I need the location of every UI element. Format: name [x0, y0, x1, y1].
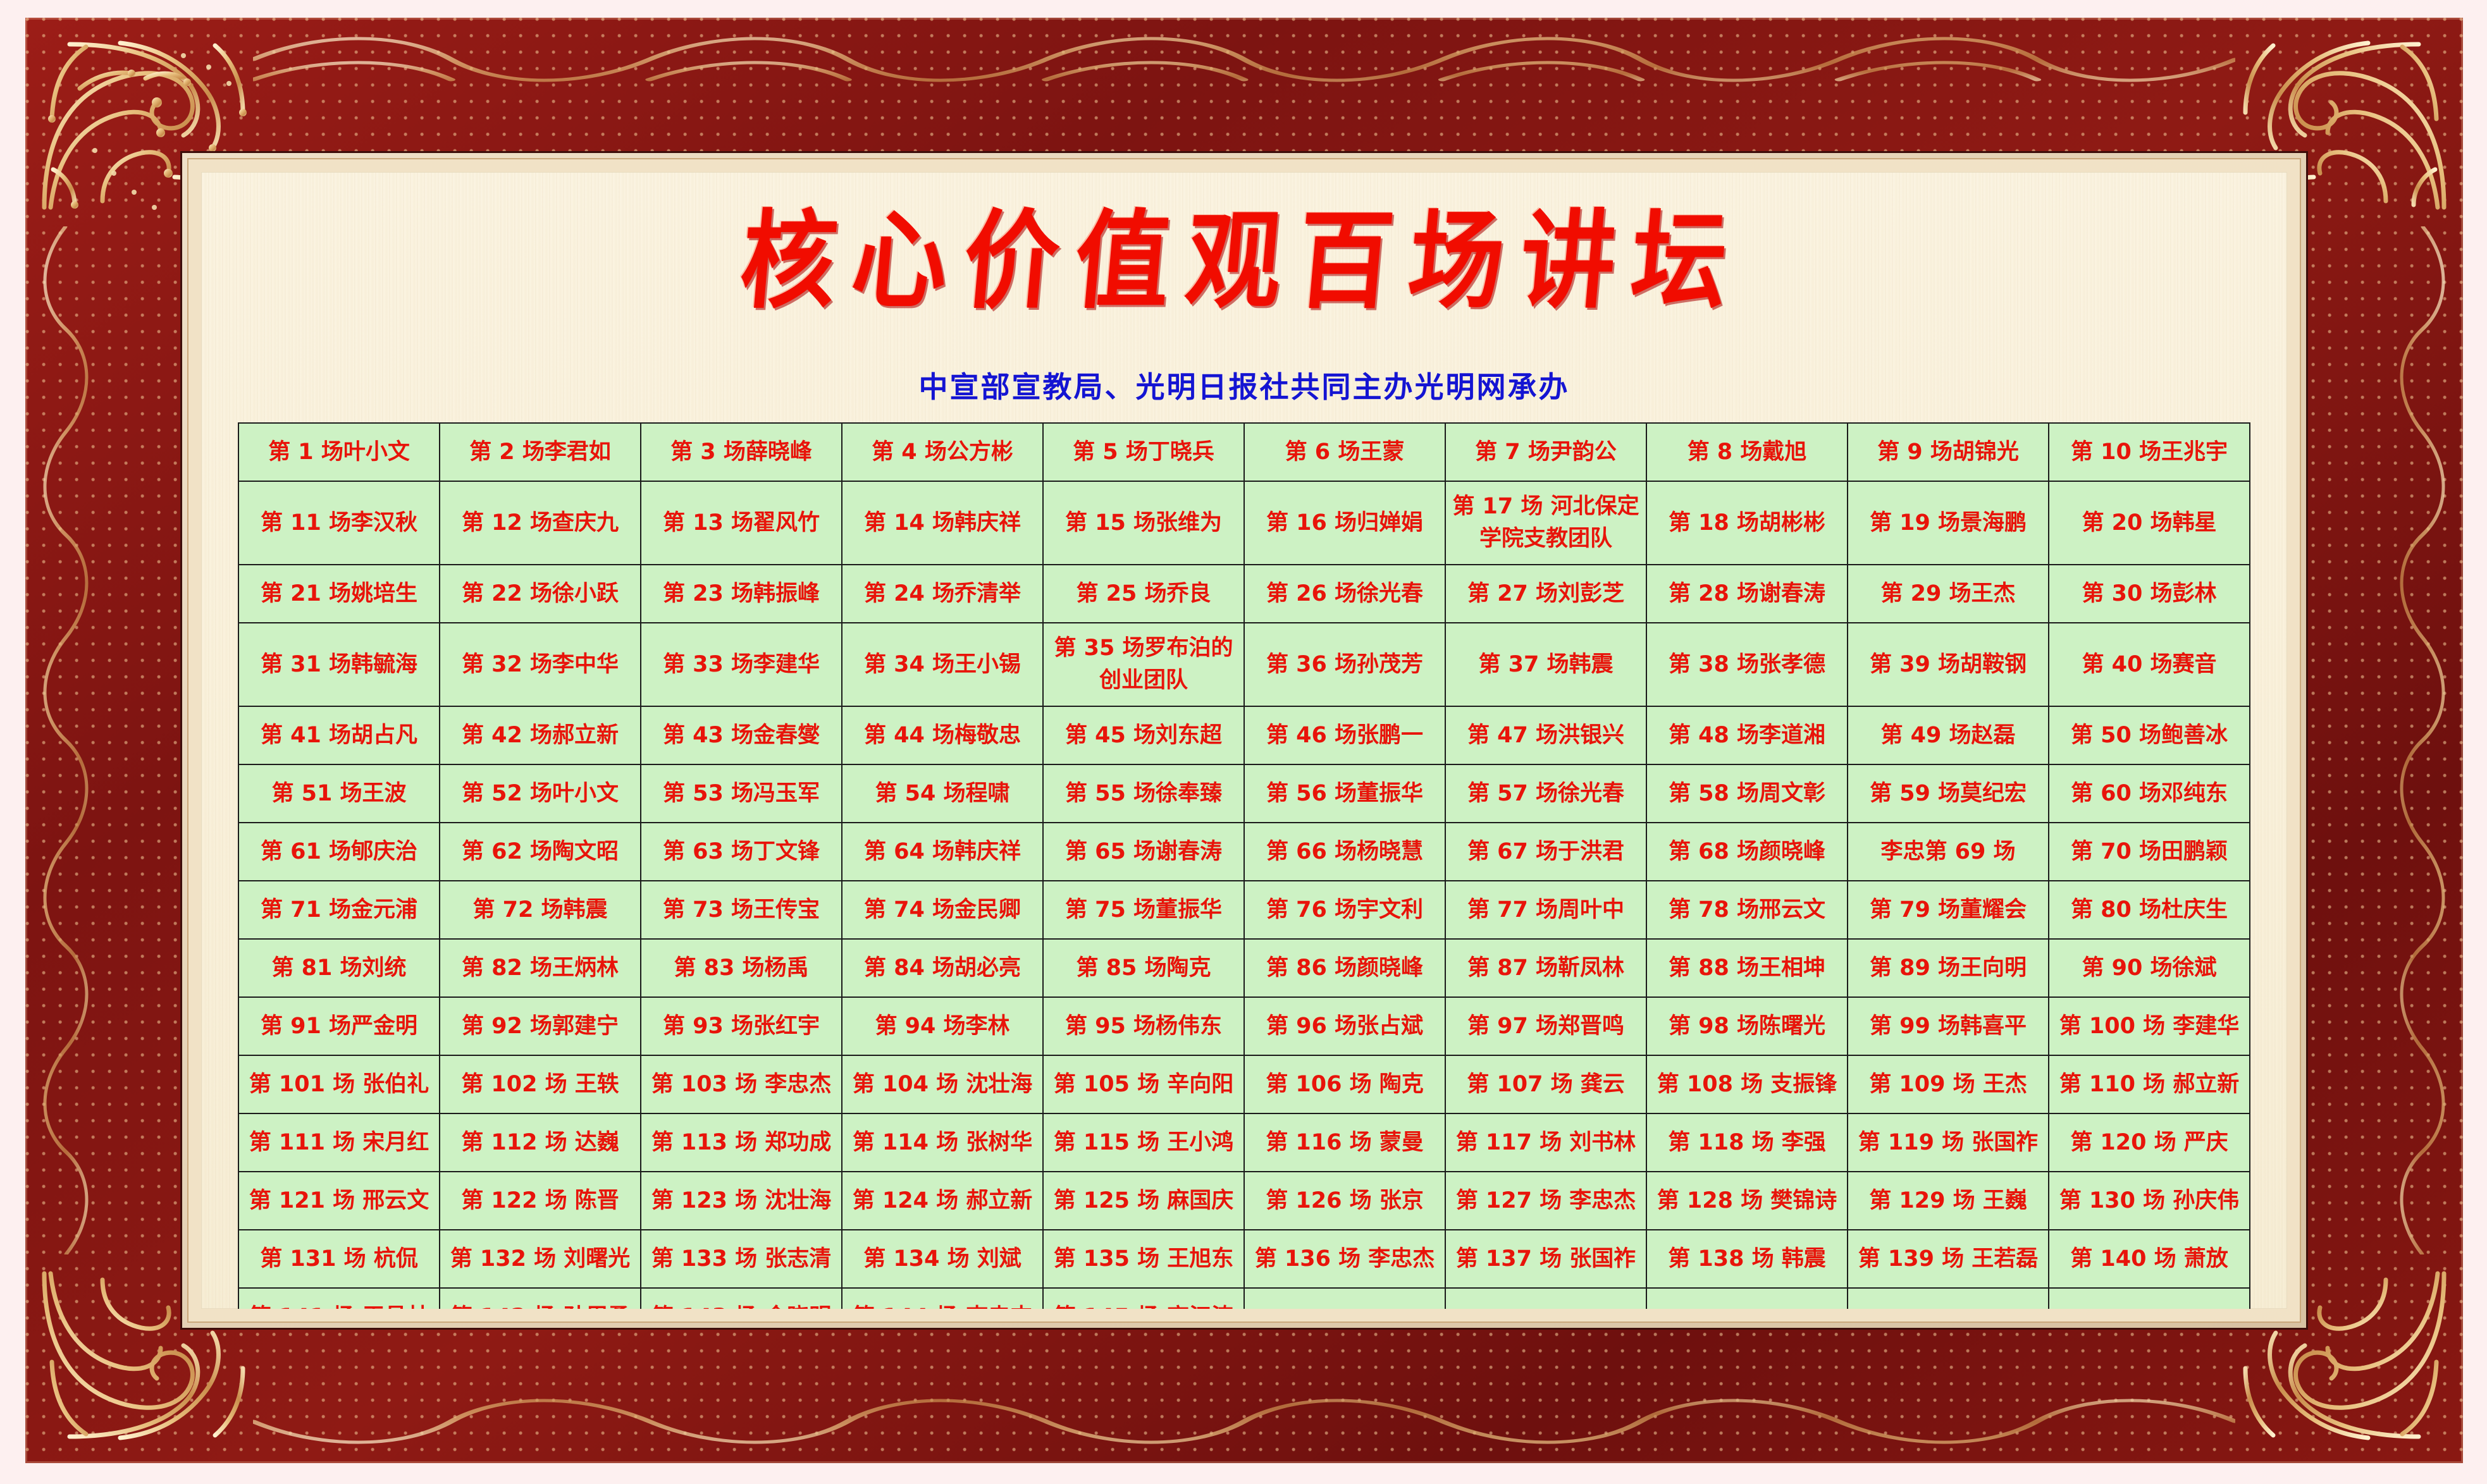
- lecture-cell[interactable]: 第 61 场郇庆治: [238, 823, 440, 881]
- lecture-cell[interactable]: 第 132 场 刘曙光: [440, 1230, 641, 1288]
- lecture-cell[interactable]: 第 11 场李汉秋: [238, 481, 440, 565]
- lecture-cell[interactable]: 第 131 场 杭侃: [238, 1230, 440, 1288]
- lecture-cell[interactable]: 第 76 场宇文利: [1244, 881, 1445, 939]
- table-row: 第 131 场 杭侃第 132 场 刘曙光第 133 场 张志清第 134 场 …: [238, 1230, 2250, 1288]
- lecture-cell[interactable]: 第 51 场王波: [238, 764, 440, 823]
- page-subtitle: 中宣部宣教局、光明日报社共同主办光明网承办: [201, 364, 2287, 406]
- lecture-cell[interactable]: 第 70 场田鹏颖: [2049, 823, 2250, 881]
- lecture-cell[interactable]: 第 112 场 达巍: [440, 1113, 641, 1172]
- lecture-cell[interactable]: 第 43 场金春燮: [641, 706, 842, 764]
- table-row: 第 61 场郇庆治第 62 场陶文昭第 63 场丁文锋第 64 场韩庆祥第 65…: [238, 823, 2250, 881]
- lecture-cell[interactable]: 第 53 场冯玉军: [641, 764, 842, 823]
- lecture-cell[interactable]: 第 39 场胡鞍钢: [1848, 623, 2049, 706]
- edge-ornament-right: [2385, 226, 2460, 1254]
- table-row: 第 71 场金元浦第 72 场韩震第 73 场王传宝第 74 场金民卿第 75 …: [238, 881, 2250, 939]
- table-row: 第 21 场姚培生第 22 场徐小跃第 23 场韩振峰第 24 场乔清举第 25…: [238, 565, 2250, 623]
- lecture-cell[interactable]: 第 1 场叶小文: [238, 423, 440, 481]
- lecture-cell[interactable]: 第 63 场丁文锋: [641, 823, 842, 881]
- lecture-cell[interactable]: 第 83 场杨禹: [641, 939, 842, 997]
- lecture-cell[interactable]: 第 44 场梅敬忠: [842, 706, 1043, 764]
- lecture-cell[interactable]: 第 34 场王小锡: [842, 623, 1043, 706]
- lecture-cell[interactable]: 第 17 场 河北保定学院支教团队: [1445, 481, 1646, 565]
- lecture-cell[interactable]: 第 22 场徐小跃: [440, 565, 641, 623]
- lecture-cell[interactable]: 第 4 场公方彬: [842, 423, 1043, 481]
- lecture-table: 第 1 场叶小文第 2 场李君如第 3 场薛晓峰第 4 场公方彬第 5 场丁晓兵…: [238, 422, 2250, 1309]
- lecture-cell[interactable]: 第 135 场 王旭东: [1043, 1230, 1244, 1288]
- lecture-cell[interactable]: 第 72 场韩震: [440, 881, 641, 939]
- lecture-cell[interactable]: 第 133 场 张志清: [641, 1230, 842, 1288]
- lecture-cell[interactable]: 第 20 场韩星: [2049, 481, 2250, 565]
- table-row: 第 41 场胡占凡第 42 场郝立新第 43 场金春燮第 44 场梅敬忠第 45…: [238, 706, 2250, 764]
- lecture-cell-empty: [2049, 1288, 2250, 1309]
- lecture-cell[interactable]: 第 88 场王相坤: [1646, 939, 1848, 997]
- lecture-cell[interactable]: 第 137 场 张国祚: [1445, 1230, 1646, 1288]
- inner-frame-bevel: 核心价值观百场讲坛 中宣部宣教局、光明日报社共同主办光明网承办 第 1 场叶小文…: [187, 158, 2301, 1323]
- inner-frame: 核心价值观百场讲坛 中宣部宣教局、光明日报社共同主办光明网承办 第 1 场叶小文…: [182, 153, 2306, 1328]
- lecture-cell[interactable]: 第 66 场杨晓慧: [1244, 823, 1445, 881]
- lecture-cell[interactable]: 第 57 场徐光春: [1445, 764, 1646, 823]
- lecture-cell[interactable]: 第 33 场李建华: [641, 623, 842, 706]
- lecture-cell[interactable]: 第 73 场王传宝: [641, 881, 842, 939]
- lecture-cell[interactable]: 第 84 场胡必亮: [842, 939, 1043, 997]
- table-row: 第 1 场叶小文第 2 场李君如第 3 场薛晓峰第 4 场公方彬第 5 场丁晓兵…: [238, 423, 2250, 481]
- lecture-cell[interactable]: 第 109 场 王杰: [1848, 1055, 2049, 1113]
- lecture-cell[interactable]: 第 78 场邢云文: [1646, 881, 1848, 939]
- lecture-cell[interactable]: 第 14 场韩庆祥: [842, 481, 1043, 565]
- lecture-cell[interactable]: 第 116 场 蒙曼: [1244, 1113, 1445, 1172]
- lecture-cell[interactable]: 第 46 场张鹏一: [1244, 706, 1445, 764]
- lecture-cell[interactable]: 第 24 场乔清举: [842, 565, 1043, 623]
- lecture-cell[interactable]: 第 71 场金元浦: [238, 881, 440, 939]
- lecture-cell[interactable]: 第 106 场 陶克: [1244, 1055, 1445, 1113]
- table-row: 第 31 场韩毓海第 32 场李中华第 33 场李建华第 34 场王小锡第 35…: [238, 623, 2250, 706]
- lecture-cell[interactable]: 第 90 场徐斌: [2049, 939, 2250, 997]
- lecture-cell[interactable]: 第 37 场韩震: [1445, 623, 1646, 706]
- lecture-cell[interactable]: 第 62 场陶文昭: [440, 823, 641, 881]
- lecture-cell[interactable]: 第 99 场韩喜平: [1848, 997, 2049, 1055]
- lecture-cell[interactable]: 第 45 场刘东超: [1043, 706, 1244, 764]
- poster-screen: 核心价值观百场讲坛 中宣部宣教局、光明日报社共同主办光明网承办 第 1 场叶小文…: [0, 0, 2487, 1484]
- lecture-cell[interactable]: 第 60 场邓纯东: [2049, 764, 2250, 823]
- lecture-cell[interactable]: 第 107 场 龚云: [1445, 1055, 1646, 1113]
- lecture-cell[interactable]: 第 87 场靳凤林: [1445, 939, 1646, 997]
- lecture-cell[interactable]: 第 92 场郭建宁: [440, 997, 641, 1055]
- lecture-cell[interactable]: 第 136 场 李忠杰: [1244, 1230, 1445, 1288]
- lecture-cell[interactable]: 第 58 场周文彰: [1646, 764, 1848, 823]
- edge-ornament-bottom: [253, 1383, 2235, 1459]
- lecture-cell[interactable]: 第 28 场谢春涛: [1646, 565, 1848, 623]
- lecture-cell[interactable]: 第 124 场 郝立新: [842, 1172, 1043, 1230]
- lecture-cell[interactable]: 第 16 场归婵娟: [1244, 481, 1445, 565]
- lecture-cell-empty: [1445, 1288, 1646, 1309]
- lecture-cell[interactable]: 第 80 场杜庆生: [2049, 881, 2250, 939]
- lecture-cell[interactable]: 第 32 场李中华: [440, 623, 641, 706]
- lecture-cell[interactable]: 第 114 场 张树华: [842, 1113, 1043, 1172]
- lecture-cell[interactable]: 第 108 场 支振锋: [1646, 1055, 1848, 1113]
- lecture-cell[interactable]: 第 115 场 王小鸿: [1043, 1113, 1244, 1172]
- lecture-cell[interactable]: 第 139 场 王若磊: [1848, 1230, 2049, 1288]
- lecture-cell[interactable]: 第 68 场颜晓峰: [1646, 823, 1848, 881]
- lecture-cell[interactable]: 李忠第 69 场: [1848, 823, 2049, 881]
- lecture-cell[interactable]: 第 97 场郑晋鸣: [1445, 997, 1646, 1055]
- lecture-cell[interactable]: 第 86 场颜晓峰: [1244, 939, 1445, 997]
- lecture-cell[interactable]: 第 35 场罗布泊的创业团队: [1043, 623, 1244, 706]
- lecture-cell[interactable]: 第 82 场王炳林: [440, 939, 641, 997]
- lecture-cell[interactable]: 第 54 场程啸: [842, 764, 1043, 823]
- lecture-cell[interactable]: 第 111 场 宋月红: [238, 1113, 440, 1172]
- table-row: 第 121 场 邢云文第 122 场 陈晋第 123 场 沈壮海第 124 场 …: [238, 1172, 2250, 1230]
- lecture-cell[interactable]: 第 128 场 樊锦诗: [1646, 1172, 1848, 1230]
- lecture-cell-empty: [1848, 1288, 2049, 1309]
- lecture-cell[interactable]: 第 120 场 严庆: [2049, 1113, 2250, 1172]
- lecture-cell[interactable]: 第 125 场 麻国庆: [1043, 1172, 1244, 1230]
- lecture-cell[interactable]: 第 65 场谢春涛: [1043, 823, 1244, 881]
- lecture-cell[interactable]: 第 75 场董振华: [1043, 881, 1244, 939]
- ornate-frame: 核心价值观百场讲坛 中宣部宣教局、光明日报社共同主办光明网承办 第 1 场叶小文…: [25, 18, 2463, 1463]
- lecture-cell[interactable]: 第 47 场洪银兴: [1445, 706, 1646, 764]
- lecture-cell[interactable]: 第 41 场胡占凡: [238, 706, 440, 764]
- lecture-cell[interactable]: 第 127 场 李忠杰: [1445, 1172, 1646, 1230]
- lecture-cell[interactable]: 第 81 场刘统: [238, 939, 440, 997]
- page-title: 核心价值观百场讲坛: [201, 172, 2287, 314]
- lecture-cell[interactable]: 第 141 场 王昌林: [238, 1288, 440, 1309]
- lecture-cell[interactable]: 第 96 场张占斌: [1244, 997, 1445, 1055]
- lecture-cell[interactable]: 第 74 场金民卿: [842, 881, 1043, 939]
- lecture-cell[interactable]: 第 31 场韩毓海: [238, 623, 440, 706]
- lecture-cell[interactable]: 第 19 场景海鹏: [1848, 481, 2049, 565]
- lecture-cell[interactable]: 第 59 场莫纪宏: [1848, 764, 2049, 823]
- lecture-cell[interactable]: 第 129 场 王巍: [1848, 1172, 2049, 1230]
- lecture-cell[interactable]: 第 42 场郝立新: [440, 706, 641, 764]
- lecture-cell[interactable]: 第 117 场 刘书林: [1445, 1113, 1646, 1172]
- lecture-cell[interactable]: 第 102 场 王轶: [440, 1055, 641, 1113]
- lecture-cell[interactable]: 第 95 场杨伟东: [1043, 997, 1244, 1055]
- lecture-cell[interactable]: 第 91 场严金明: [238, 997, 440, 1055]
- edge-ornament-top: [253, 21, 2235, 97]
- lecture-cell[interactable]: 第 138 场 韩震: [1646, 1230, 1848, 1288]
- lecture-cell[interactable]: 第 12 场查庆九: [440, 481, 641, 565]
- table-row: 第 91 场严金明第 92 场郭建宁第 93 场张红宇第 94 场李林第 95 …: [238, 997, 2250, 1055]
- lecture-cell[interactable]: 第 105 场 辛向阳: [1043, 1055, 1244, 1113]
- lecture-cell[interactable]: 第 130 场 孙庆伟: [2049, 1172, 2250, 1230]
- lecture-cell[interactable]: 第 6 场王蒙: [1244, 423, 1445, 481]
- table-row: 第 51 场王波第 52 场叶小文第 53 场冯玉军第 54 场程啸第 55 场…: [238, 764, 2250, 823]
- lecture-cell[interactable]: 第 13 场翟风竹: [641, 481, 842, 565]
- lecture-cell[interactable]: 第 79 场董耀会: [1848, 881, 2049, 939]
- lecture-cell[interactable]: 第 110 场 郝立新: [2049, 1055, 2250, 1113]
- lecture-cell[interactable]: 第 50 场鲍善冰: [2049, 706, 2250, 764]
- lecture-cell[interactable]: 第 40 场赛音: [2049, 623, 2250, 706]
- lecture-table-wrap: 第 1 场叶小文第 2 场李君如第 3 场薛晓峰第 4 场公方彬第 5 场丁晓兵…: [238, 422, 2250, 1309]
- lecture-cell[interactable]: 第 27 场刘彭芝: [1445, 565, 1646, 623]
- lecture-cell[interactable]: 第 26 场徐光春: [1244, 565, 1445, 623]
- table-row: 第 111 场 宋月红第 112 场 达巍第 113 场 郑功成第 114 场 …: [238, 1113, 2250, 1172]
- lecture-cell[interactable]: 第 49 场赵磊: [1848, 706, 2049, 764]
- lecture-cell[interactable]: 第 2 场李君如: [440, 423, 641, 481]
- lecture-cell[interactable]: 第 145 场 高江涛: [1043, 1288, 1244, 1309]
- table-row: 第 11 场李汉秋第 12 场查庆九第 13 场翟风竹第 14 场韩庆祥第 15…: [238, 481, 2250, 565]
- lecture-cell-empty: [1646, 1288, 1848, 1309]
- table-row: 第 101 场 张伯礼第 102 场 王轶第 103 场 李忠杰第 104 场 …: [238, 1055, 2250, 1113]
- lecture-cell[interactable]: 第 5 场丁晓兵: [1043, 423, 1244, 481]
- lecture-cell[interactable]: 第 104 场 沈壮海: [842, 1055, 1043, 1113]
- lecture-cell[interactable]: 第 122 场 陈晋: [440, 1172, 641, 1230]
- lecture-cell[interactable]: 第 3 场薛晓峰: [641, 423, 842, 481]
- lecture-cell[interactable]: 第 29 场王杰: [1848, 565, 2049, 623]
- lecture-cell[interactable]: 第 8 场戴旭: [1646, 423, 1848, 481]
- lecture-cell[interactable]: 第 52 场叶小文: [440, 764, 641, 823]
- lecture-cell[interactable]: 第 18 场胡彬彬: [1646, 481, 1848, 565]
- lecture-cell[interactable]: 第 93 场张红宇: [641, 997, 842, 1055]
- lecture-cell[interactable]: 第 9 场胡锦光: [1848, 423, 2049, 481]
- lecture-cell[interactable]: 第 21 场姚培生: [238, 565, 440, 623]
- poster-paper: 核心价值观百场讲坛 中宣部宣教局、光明日报社共同主办光明网承办 第 1 场叶小文…: [201, 172, 2287, 1309]
- lecture-cell[interactable]: 第 56 场董振华: [1244, 764, 1445, 823]
- lecture-cell[interactable]: 第 48 场李道湘: [1646, 706, 1848, 764]
- lecture-cell[interactable]: 第 30 场彭林: [2049, 565, 2250, 623]
- table-row: 第 81 场刘统第 82 场王炳林第 83 场杨禹第 84 场胡必亮第 85 场…: [238, 939, 2250, 997]
- lecture-cell[interactable]: 第 121 场 邢云文: [238, 1172, 440, 1230]
- lecture-cell[interactable]: 第 118 场 李强: [1646, 1113, 1848, 1172]
- lecture-cell[interactable]: 第 144 场 李忠杰: [842, 1288, 1043, 1309]
- lecture-cell[interactable]: 第 23 场韩振峰: [641, 565, 842, 623]
- lecture-cell[interactable]: 第 98 场陈曙光: [1646, 997, 1848, 1055]
- lecture-cell[interactable]: 第 100 场 李建华: [2049, 997, 2250, 1055]
- lecture-cell[interactable]: 第 67 场于洪君: [1445, 823, 1646, 881]
- table-row: 第 141 场 王昌林第 142 场 孙周勇第 143 场 金晓明第 144 场…: [238, 1288, 2250, 1309]
- lecture-cell-empty: [1244, 1288, 1445, 1309]
- lecture-cell[interactable]: 第 64 场韩庆祥: [842, 823, 1043, 881]
- lecture-cell[interactable]: 第 113 场 郑功成: [641, 1113, 842, 1172]
- lecture-cell[interactable]: 第 123 场 沈壮海: [641, 1172, 842, 1230]
- lecture-cell[interactable]: 第 134 场 刘斌: [842, 1230, 1043, 1288]
- lecture-cell[interactable]: 第 94 场李林: [842, 997, 1043, 1055]
- lecture-cell[interactable]: 第 119 场 张国祚: [1848, 1113, 2049, 1172]
- lecture-cell[interactable]: 第 15 场张维为: [1043, 481, 1244, 565]
- lecture-cell[interactable]: 第 85 场陶克: [1043, 939, 1244, 997]
- lecture-table-body: 第 1 场叶小文第 2 场李君如第 3 场薛晓峰第 4 场公方彬第 5 场丁晓兵…: [238, 423, 2250, 1309]
- lecture-cell[interactable]: 第 7 场尹韵公: [1445, 423, 1646, 481]
- lecture-cell[interactable]: 第 36 场孙茂芳: [1244, 623, 1445, 706]
- lecture-cell[interactable]: 第 103 场 李忠杰: [641, 1055, 842, 1113]
- lecture-cell[interactable]: 第 140 场 萧放: [2049, 1230, 2250, 1288]
- lecture-cell[interactable]: 第 10 场王兆宇: [2049, 423, 2250, 481]
- lecture-cell[interactable]: 第 126 场 张京: [1244, 1172, 1445, 1230]
- edge-ornament-left: [28, 226, 104, 1254]
- lecture-cell[interactable]: 第 89 场王向明: [1848, 939, 2049, 997]
- lecture-cell[interactable]: 第 101 场 张伯礼: [238, 1055, 440, 1113]
- lecture-cell[interactable]: 第 38 场张孝德: [1646, 623, 1848, 706]
- lecture-cell[interactable]: 第 142 场 孙周勇: [440, 1288, 641, 1309]
- lecture-cell[interactable]: 第 143 场 金晓明: [641, 1288, 842, 1309]
- lecture-cell[interactable]: 第 25 场乔良: [1043, 565, 1244, 623]
- lecture-cell[interactable]: 第 55 场徐奉臻: [1043, 764, 1244, 823]
- lecture-cell[interactable]: 第 77 场周叶中: [1445, 881, 1646, 939]
